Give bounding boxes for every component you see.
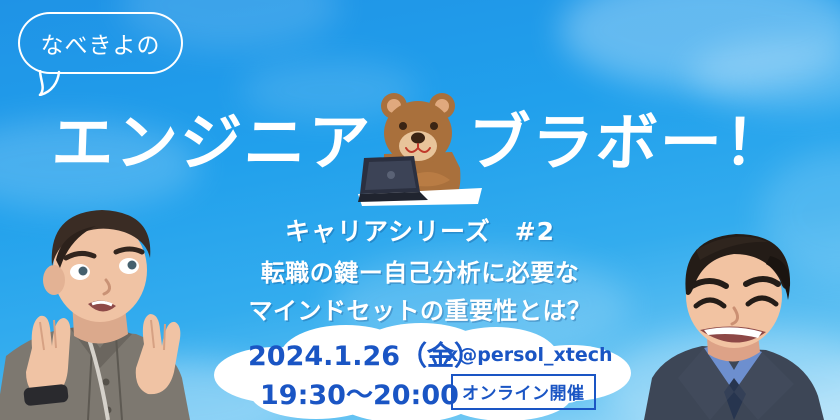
status-badge: オンライン開催 xyxy=(451,374,596,410)
cloud-wisp xyxy=(560,0,840,90)
episode-number: #2 xyxy=(515,217,555,246)
headline-right: ブラボー！ xyxy=(466,92,789,182)
bear-mascot-icon xyxy=(358,88,482,206)
person-right-illustration xyxy=(638,228,840,420)
person-left-illustration xyxy=(0,196,208,420)
event-banner: なべきよの エンジニア ブラボー！ xyxy=(0,0,840,420)
speech-bubble: なべきよの xyxy=(18,12,183,74)
series-label: キャリアシリーズ xyxy=(285,217,491,246)
event-info: 2024.1.26（金） x@persol_xtech 19:30〜20:00 … xyxy=(206,321,646,420)
headline-left: エンジニア xyxy=(50,92,373,182)
speech-bubble-label: なべきよの xyxy=(41,26,161,60)
social-handle[interactable]: x@persol_xtech xyxy=(446,344,613,366)
event-time: 19:30〜20:00 xyxy=(260,373,459,412)
